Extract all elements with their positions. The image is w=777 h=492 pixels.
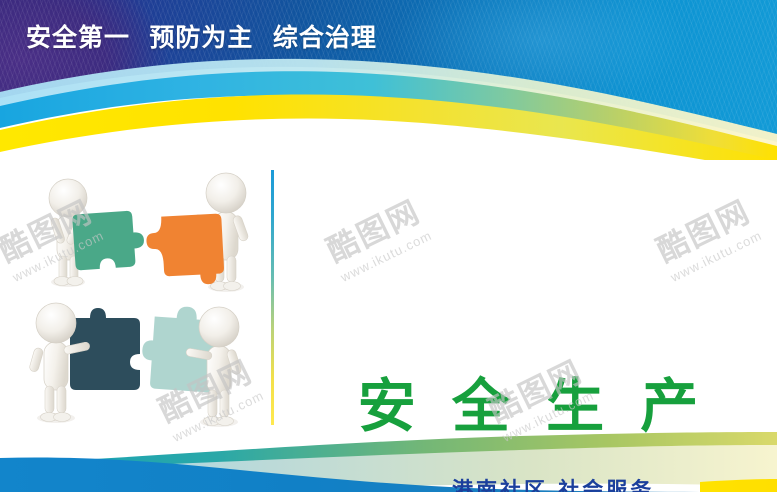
- poster-canvas: 安全第一 预防为主 综合治理: [0, 0, 777, 492]
- top-banner: 安全第一 预防为主 综合治理: [0, 0, 777, 160]
- gradient-divider: [271, 170, 274, 425]
- piece-top-left: [72, 210, 146, 271]
- bottom-banner-text: 港南社区 社会服务: [452, 474, 654, 492]
- bottom-wave-band: [0, 430, 777, 492]
- banner-title: 安全第一 预防为主 综合治理: [26, 18, 377, 54]
- piece-top-right: [145, 213, 225, 287]
- bottom-wave-graphic: [0, 430, 777, 492]
- puzzle-teamwork-illustration: [8, 160, 270, 435]
